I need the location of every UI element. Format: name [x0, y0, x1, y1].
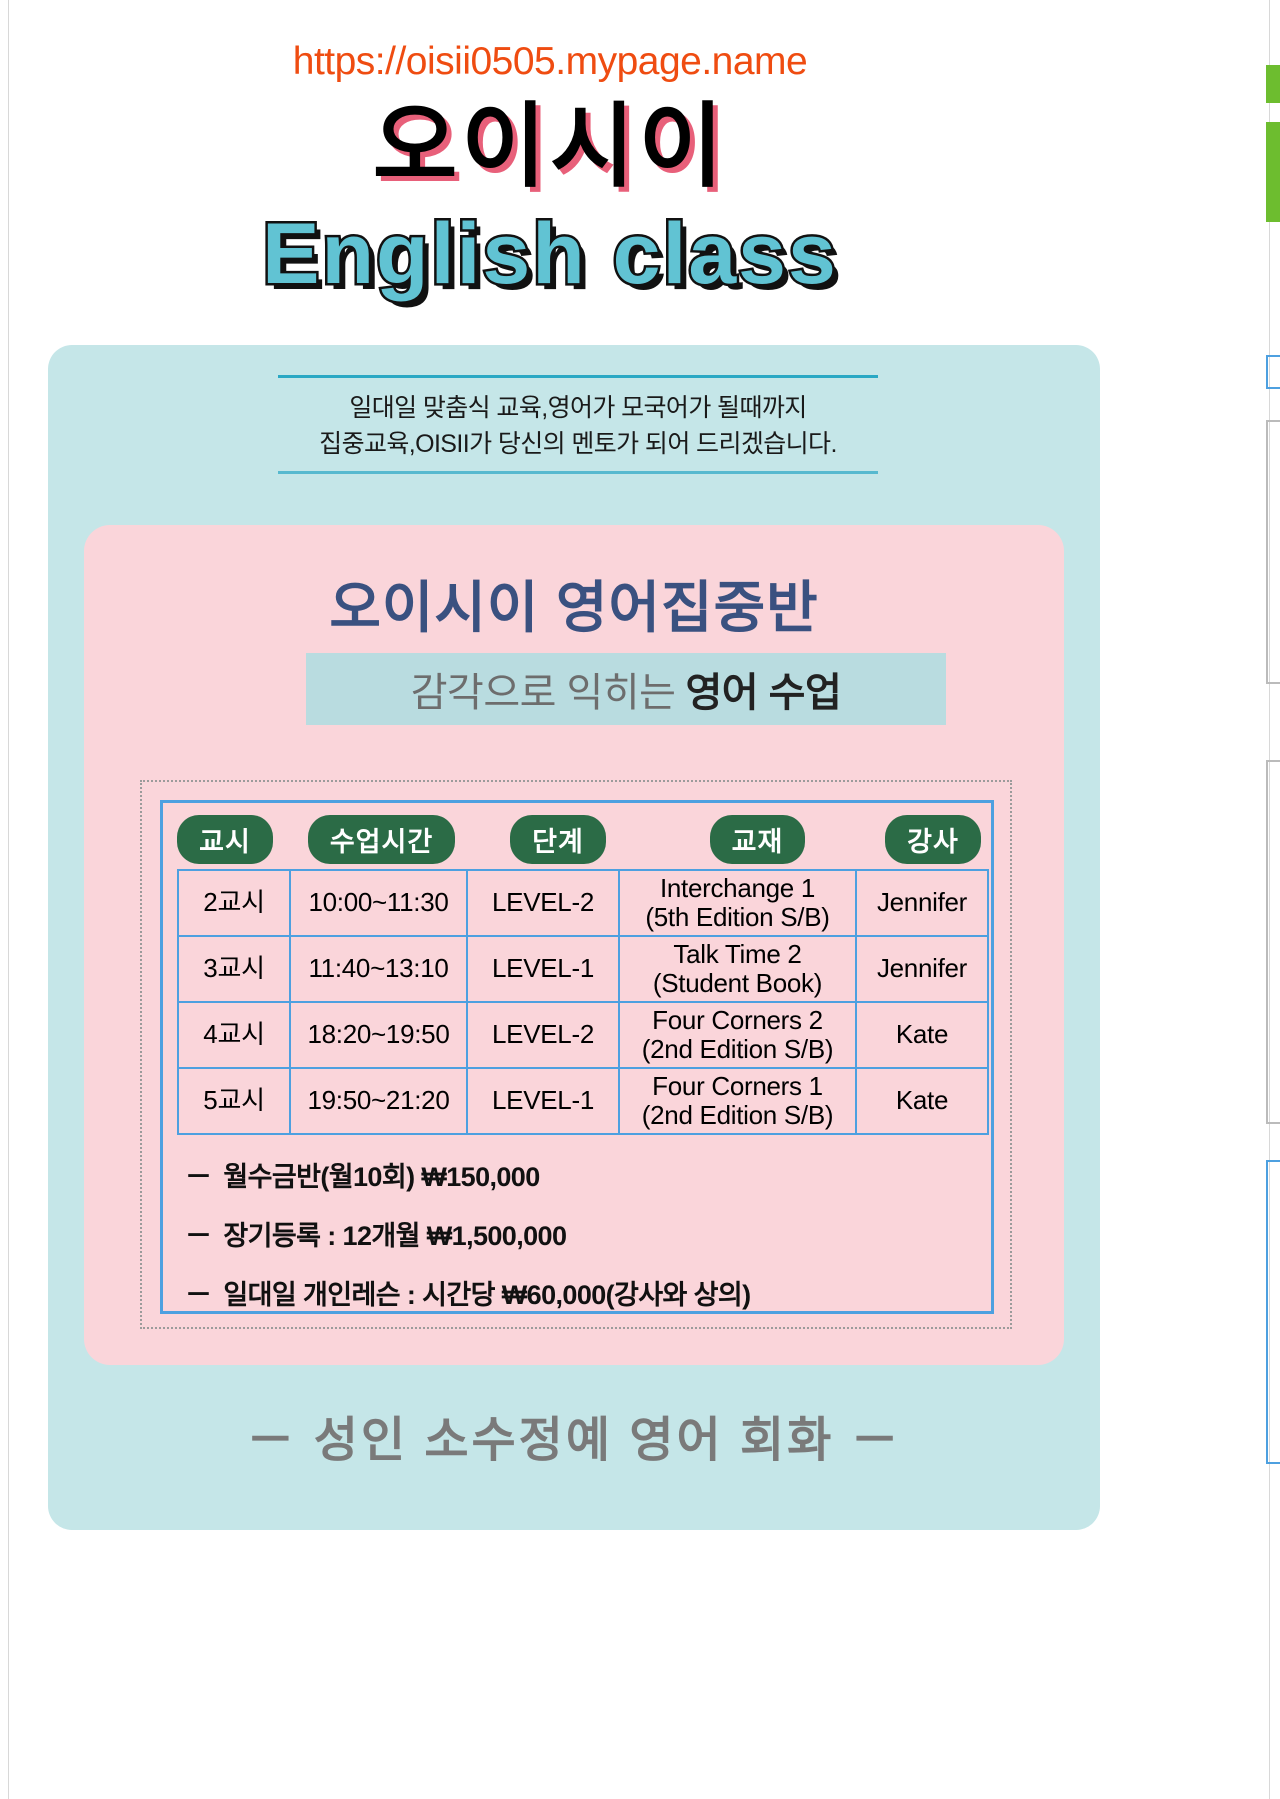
book-edition: (Student Book) — [620, 969, 855, 998]
cell-teacher: Jennifer — [856, 870, 988, 936]
cell-time: 18:20~19:50 — [290, 1002, 467, 1068]
intro-rule-bottom — [278, 471, 878, 474]
cell-level: LEVEL-2 — [467, 1002, 619, 1068]
edge-fragment-box-a — [1266, 355, 1280, 389]
website-url[interactable]: https://oisii0505.mypage.name — [0, 40, 1100, 84]
brand-title-korean: 오이시이 — [0, 95, 1100, 201]
column-label-book: 교재 — [710, 815, 806, 864]
cell-teacher: Kate — [856, 1002, 988, 1068]
schedule-inner-frame: 교시 수업시간 단계 교재 강사 — [160, 800, 994, 1314]
schedule-header-row: 교시 수업시간 단계 교재 강사 — [163, 815, 991, 864]
cell-time: 19:50~21:20 — [290, 1068, 467, 1134]
book-edition: (2nd Edition S/B) — [620, 1035, 855, 1064]
program-pink-card: 오이시이 영어집중반 감각으로 익히는 영어 수업 교시 수업시간 — [84, 525, 1064, 1365]
cell-book: Four Corners 1 (2nd Edition S/B) — [619, 1068, 856, 1134]
cell-level: LEVEL-2 — [467, 870, 619, 936]
header-cell-level: 단계 — [476, 815, 640, 864]
intro-line-2: 집중교육,OISII가 당신의 멘토가 되어 드리겠습니다. — [278, 426, 878, 462]
bullet-dash: － — [185, 1280, 211, 1310]
header-cell-book: 교재 — [640, 815, 875, 864]
intro-line-1: 일대일 맞춤식 교육,영어가 모국어가 될때까지 — [278, 390, 878, 426]
intro-text: 일대일 맞춤식 교육,영어가 모국어가 될때까지 집중교육,OISII가 당신의… — [278, 378, 878, 471]
cell-teacher: Jennifer — [856, 936, 988, 1002]
cell-period: 3교시 — [178, 936, 290, 1002]
edge-fragment-box-b — [1266, 420, 1280, 684]
list-item: －일대일 개인레슨 : 시간당 ₩60,000(강사와 상의) — [185, 1273, 975, 1312]
cell-book: Interchange 1 (5th Edition S/B) — [619, 870, 856, 936]
schedule-dotted-frame: 교시 수업시간 단계 교재 강사 — [140, 780, 1012, 1329]
program-subheading-bold: 영어 수업 — [685, 660, 841, 718]
footer-tagline: － 성인 소수정예 영어 회화 － — [48, 1400, 1100, 1470]
brand-title-english: English class — [0, 205, 1100, 304]
table-row: 3교시 11:40~13:10 LEVEL-1 Talk Time 2 (Stu… — [178, 936, 988, 1002]
edge-fragment-green-bar — [1266, 122, 1280, 222]
cell-period: 2교시 — [178, 870, 290, 936]
edge-fragment-box-c — [1266, 760, 1280, 1124]
table-row: 4교시 18:20~19:50 LEVEL-2 Four Corners 2 (… — [178, 1002, 988, 1068]
cell-level: LEVEL-1 — [467, 1068, 619, 1134]
list-item: －월수금반(월10회) ₩150,000 — [185, 1155, 975, 1194]
cell-time: 11:40~13:10 — [290, 936, 467, 1002]
table-row: 5교시 19:50~21:20 LEVEL-1 Four Corners 1 (… — [178, 1068, 988, 1134]
book-title: Talk Time 2 — [620, 940, 855, 969]
edge-fragment-green-top — [1266, 65, 1280, 103]
bullet-dash: － — [185, 1162, 211, 1192]
cell-teacher: Kate — [856, 1068, 988, 1134]
header-cell-time: 수업시간 — [287, 815, 476, 864]
program-subheading-light: 감각으로 익히는 — [411, 660, 676, 718]
book-edition: (5th Edition S/B) — [620, 903, 855, 932]
price-text: 일대일 개인레슨 : 시간당 ₩60,000(강사와 상의) — [223, 1280, 750, 1310]
main-blue-card: 일대일 맞춤식 교육,영어가 모국어가 될때까지 집중교육,OISII가 당신의… — [48, 345, 1100, 1530]
program-heading: 오이시이 영어집중반 — [84, 563, 1064, 644]
header-cell-teacher: 강사 — [875, 815, 991, 864]
bullet-dash: － — [185, 1221, 211, 1251]
column-label-level: 단계 — [510, 815, 606, 864]
program-subheading: 감각으로 익히는 영어 수업 — [306, 653, 946, 725]
cell-time: 10:00~11:30 — [290, 870, 467, 936]
book-title: Four Corners 1 — [620, 1072, 855, 1101]
column-label-time: 수업시간 — [308, 815, 455, 864]
cell-book: Four Corners 2 (2nd Edition S/B) — [619, 1002, 856, 1068]
price-text: 월수금반(월10회) ₩150,000 — [223, 1162, 539, 1192]
column-label-teacher: 강사 — [885, 815, 981, 864]
schedule-table: 2교시 10:00~11:30 LEVEL-2 Interchange 1 (5… — [177, 869, 989, 1135]
book-edition: (2nd Edition S/B) — [620, 1101, 855, 1130]
column-label-period: 교시 — [177, 815, 273, 864]
cell-level: LEVEL-1 — [467, 936, 619, 1002]
header-cell-period: 교시 — [163, 815, 287, 864]
price-text: 장기등록 : 12개월 ₩1,500,000 — [223, 1221, 566, 1251]
table-row: 2교시 10:00~11:30 LEVEL-2 Interchange 1 (5… — [178, 870, 988, 936]
book-title: Interchange 1 — [620, 874, 855, 903]
cell-book: Talk Time 2 (Student Book) — [619, 936, 856, 1002]
cell-period: 4교시 — [178, 1002, 290, 1068]
list-item: －장기등록 : 12개월 ₩1,500,000 — [185, 1214, 975, 1253]
poster-canvas: https://oisii0505.mypage.name 오이시이 Engli… — [0, 0, 1280, 1799]
book-title: Four Corners 2 — [620, 1006, 855, 1035]
edge-fragment-box-d — [1266, 1160, 1280, 1464]
pricing-list: －월수금반(월10회) ₩150,000 －장기등록 : 12개월 ₩1,500… — [185, 1155, 975, 1332]
cell-period: 5교시 — [178, 1068, 290, 1134]
intro-block: 일대일 맞춤식 교육,영어가 모국어가 될때까지 집중교육,OISII가 당신의… — [278, 375, 878, 474]
